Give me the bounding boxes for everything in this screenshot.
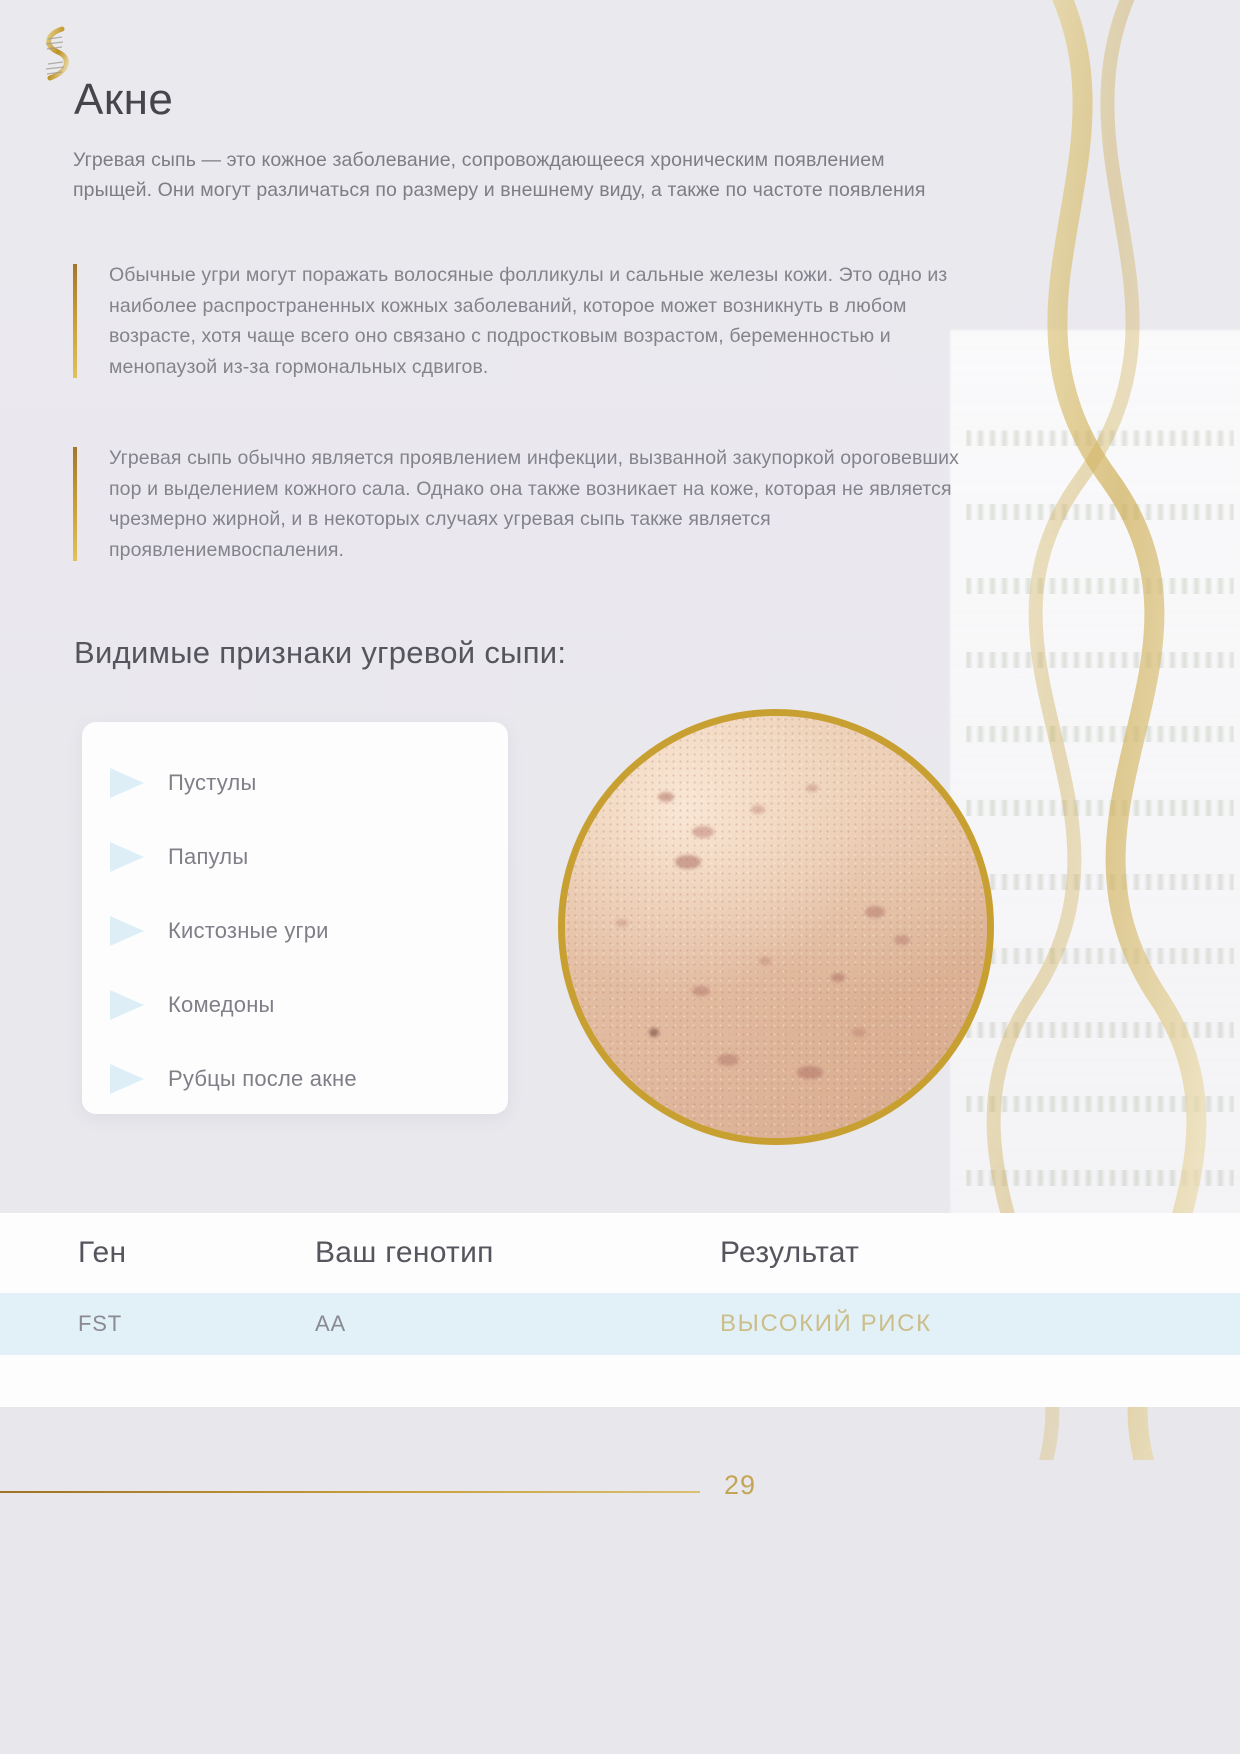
intro-paragraph: Угревая сыпь — это кожное заболевание, с… (73, 145, 963, 205)
list-item: Рубцы после акне (110, 1042, 490, 1116)
list-item-label: Папулы (168, 844, 248, 870)
status-badge: ВЫСОКИЙ РИСК (720, 1310, 1240, 1338)
list-item-label: Кистозные угри (168, 918, 329, 944)
list-item-label: Рубцы после акне (168, 1066, 357, 1092)
results-table: Ген Ваш генотип Результат FST AA ВЫСОКИЙ… (0, 1213, 1240, 1407)
page-title: Акне (74, 75, 173, 125)
list-item: Кистозные угри (110, 894, 490, 968)
signs-list: Пустулы Папулы Кистозные угри Комедоны Р… (110, 746, 490, 1116)
skin-grain-layer (558, 709, 994, 1145)
table-header-row: Ген Ваш генотип Результат (0, 1213, 1240, 1293)
list-item: Пустулы (110, 746, 490, 820)
list-item: Папулы (110, 820, 490, 894)
list-item: Комедоны (110, 968, 490, 1042)
column-header-genotype: Ваш генотип (315, 1236, 720, 1270)
callout-block-1: Обычные угри могут поражать волосяные фо… (73, 260, 989, 382)
page-number: 29 (724, 1470, 756, 1501)
triangle-right-icon (110, 1064, 144, 1094)
gel-bands-decoration (966, 430, 1234, 1190)
signs-section-heading: Видимые признаки угревой сыпи: (74, 635, 566, 671)
signs-card: Пустулы Папулы Кистозные угри Комедоны Р… (82, 722, 508, 1114)
callout-block-2: Угревая сыпь обычно является проявлением… (73, 443, 989, 565)
cell-gene: FST (0, 1311, 315, 1337)
footer-divider (0, 1491, 700, 1493)
list-item-label: Пустулы (168, 770, 256, 796)
column-header-gene: Ген (0, 1236, 315, 1270)
list-item-label: Комедоны (168, 992, 275, 1018)
cell-genotype: AA (315, 1311, 720, 1337)
triangle-right-icon (110, 916, 144, 946)
triangle-right-icon (110, 768, 144, 798)
column-header-result: Результат (720, 1236, 1240, 1270)
triangle-right-icon (110, 990, 144, 1020)
triangle-right-icon (110, 842, 144, 872)
table-footer-spacer (0, 1355, 1240, 1407)
page-canvas: Акне Угревая сыпь — это кожное заболеван… (0, 0, 1240, 1754)
table-row: FST AA ВЫСОКИЙ РИСК (0, 1293, 1240, 1355)
paper-strip-decoration (950, 330, 1240, 1330)
skin-with-acne-photo (558, 709, 994, 1145)
dna-helix-logo (36, 26, 76, 88)
